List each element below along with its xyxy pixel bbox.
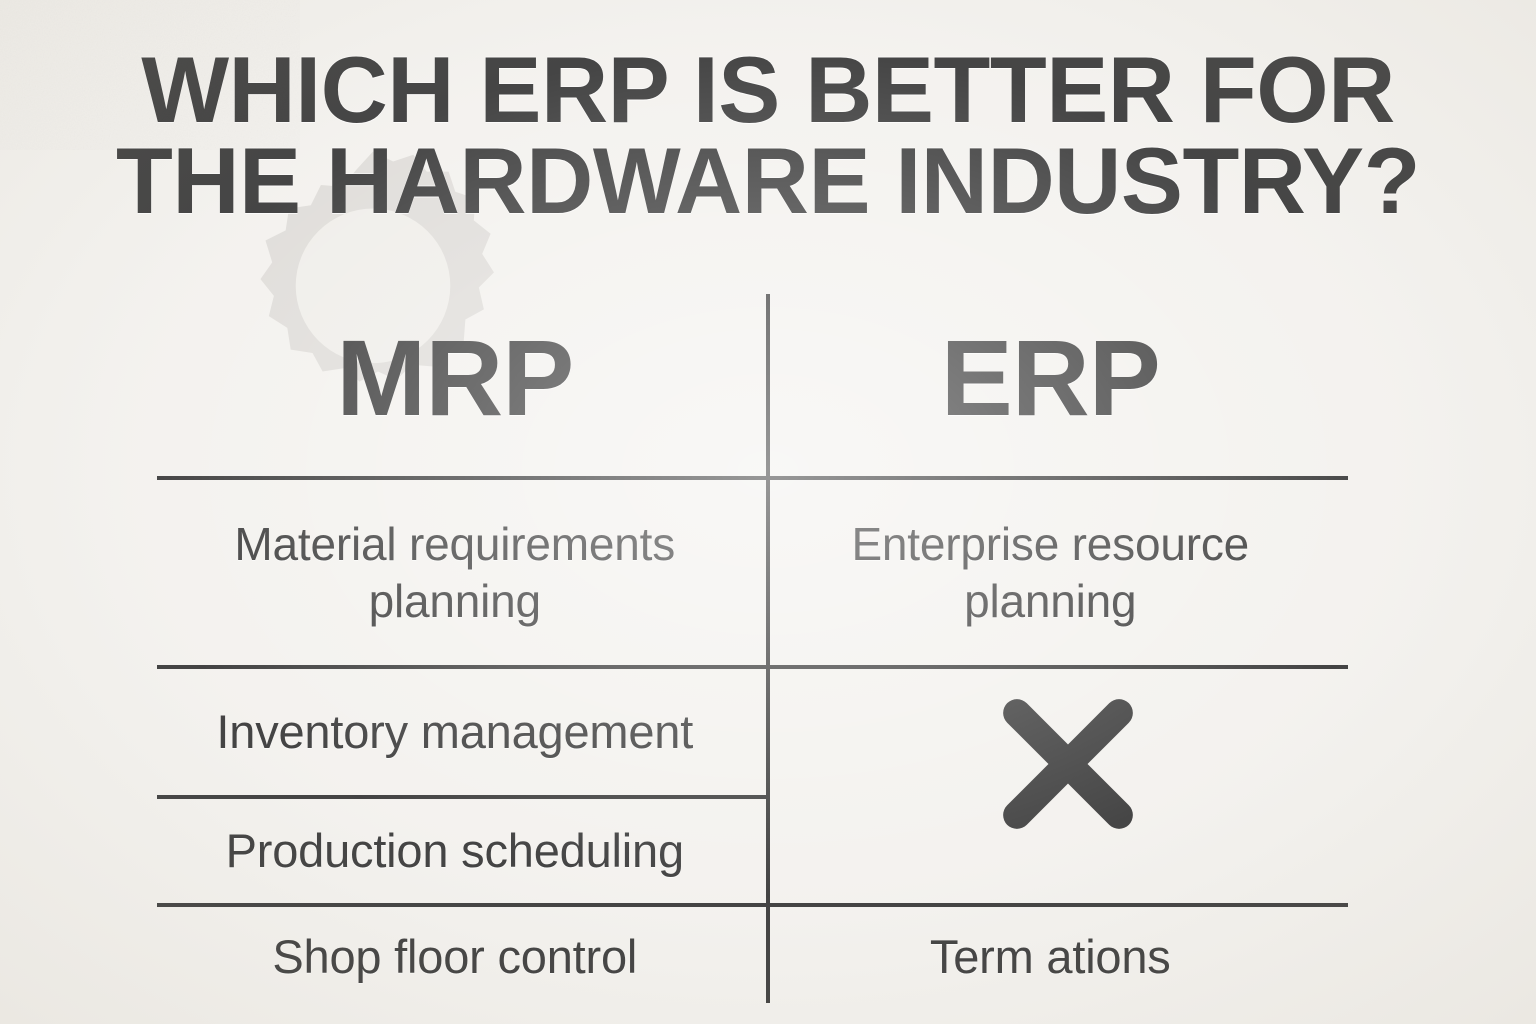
cell-mrp-4: Shop floor control bbox=[157, 907, 753, 1006]
page-title: WHICH ERP IS BETTER FOR THE HARDWARE IND… bbox=[8, 44, 1529, 226]
title-line-1: WHICH ERP IS BETTER FOR bbox=[67, 44, 1469, 135]
table-row: Production scheduling bbox=[157, 799, 1348, 903]
cell-mrp-3: Production scheduling bbox=[157, 799, 753, 903]
table-header-row: MRP ERP bbox=[157, 280, 1348, 476]
cell-erp-1: Enterprise resource planning bbox=[753, 480, 1349, 665]
row-rule-2 bbox=[157, 795, 768, 799]
comparison-table: MRP ERP Material requirements planning E… bbox=[157, 280, 1348, 1006]
column-header-erp: ERP bbox=[753, 280, 1349, 476]
poster-canvas: WHICH ERP IS BETTER FOR THE HARDWARE IND… bbox=[0, 0, 1536, 1024]
table-row: Inventory management bbox=[157, 669, 1348, 795]
row-rule-1 bbox=[157, 665, 1348, 669]
column-divider bbox=[766, 294, 770, 1003]
cell-mrp-1: Material requirements planning bbox=[157, 480, 753, 665]
column-header-mrp: MRP bbox=[157, 280, 753, 476]
header-rule bbox=[157, 476, 1348, 480]
row-rule-3 bbox=[157, 903, 1348, 907]
x-mark-icon bbox=[997, 695, 1139, 833]
title-line-2: THE HARDWARE INDUSTRY? bbox=[67, 135, 1469, 226]
table-row: Material requirements planning Enterpris… bbox=[157, 480, 1348, 665]
table-row: Shop floor control Term ations bbox=[157, 907, 1348, 1006]
cell-erp-4: Term ations bbox=[753, 907, 1349, 1006]
cell-mrp-2: Inventory management bbox=[157, 669, 753, 795]
